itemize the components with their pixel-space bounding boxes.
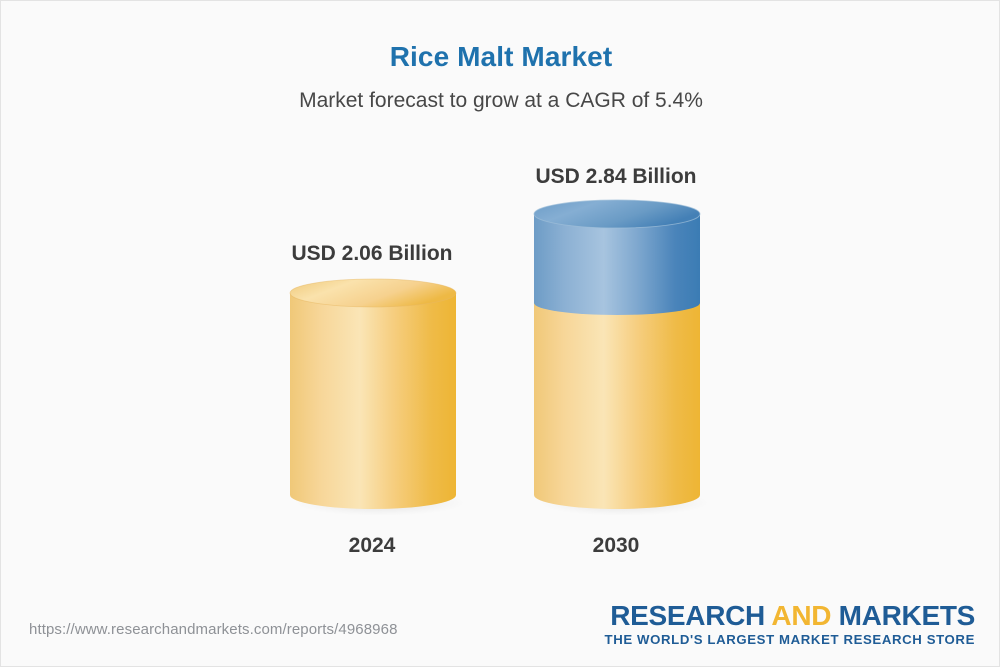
bar-segment-growth-2030 xyxy=(534,214,700,315)
logo-wordmark: RESEARCH AND MARKETS xyxy=(605,601,975,630)
plot-area: USD 2.06 Billion xyxy=(1,1,1000,601)
chart-canvas: Rice Malt Market Market forecast to grow… xyxy=(0,0,1000,667)
category-label-2024: 2024 xyxy=(242,534,502,558)
category-label-2030: 2030 xyxy=(486,534,746,558)
logo-word-and-text: AND xyxy=(771,600,831,631)
value-label-2024: USD 2.06 Billion xyxy=(242,242,502,266)
cylinder-bar-2030[interactable] xyxy=(532,199,702,519)
bar-body-2024 xyxy=(290,293,456,509)
logo-space xyxy=(831,600,838,631)
cylinder-bar-2024[interactable] xyxy=(288,279,458,519)
logo-tagline: THE WORLD'S LARGEST MARKET RESEARCH STOR… xyxy=(605,630,975,650)
logo-word-markets: MARKETS xyxy=(839,600,975,631)
research-and-markets-logo[interactable]: RESEARCH AND MARKETS THE WORLD'S LARGEST… xyxy=(605,601,975,650)
value-label-2030: USD 2.84 Billion xyxy=(486,165,746,189)
logo-word-research: RESEARCH xyxy=(610,600,765,631)
bar-segment-base-2030 xyxy=(534,303,700,509)
source-url[interactable]: https://www.researchandmarkets.com/repor… xyxy=(29,621,398,638)
